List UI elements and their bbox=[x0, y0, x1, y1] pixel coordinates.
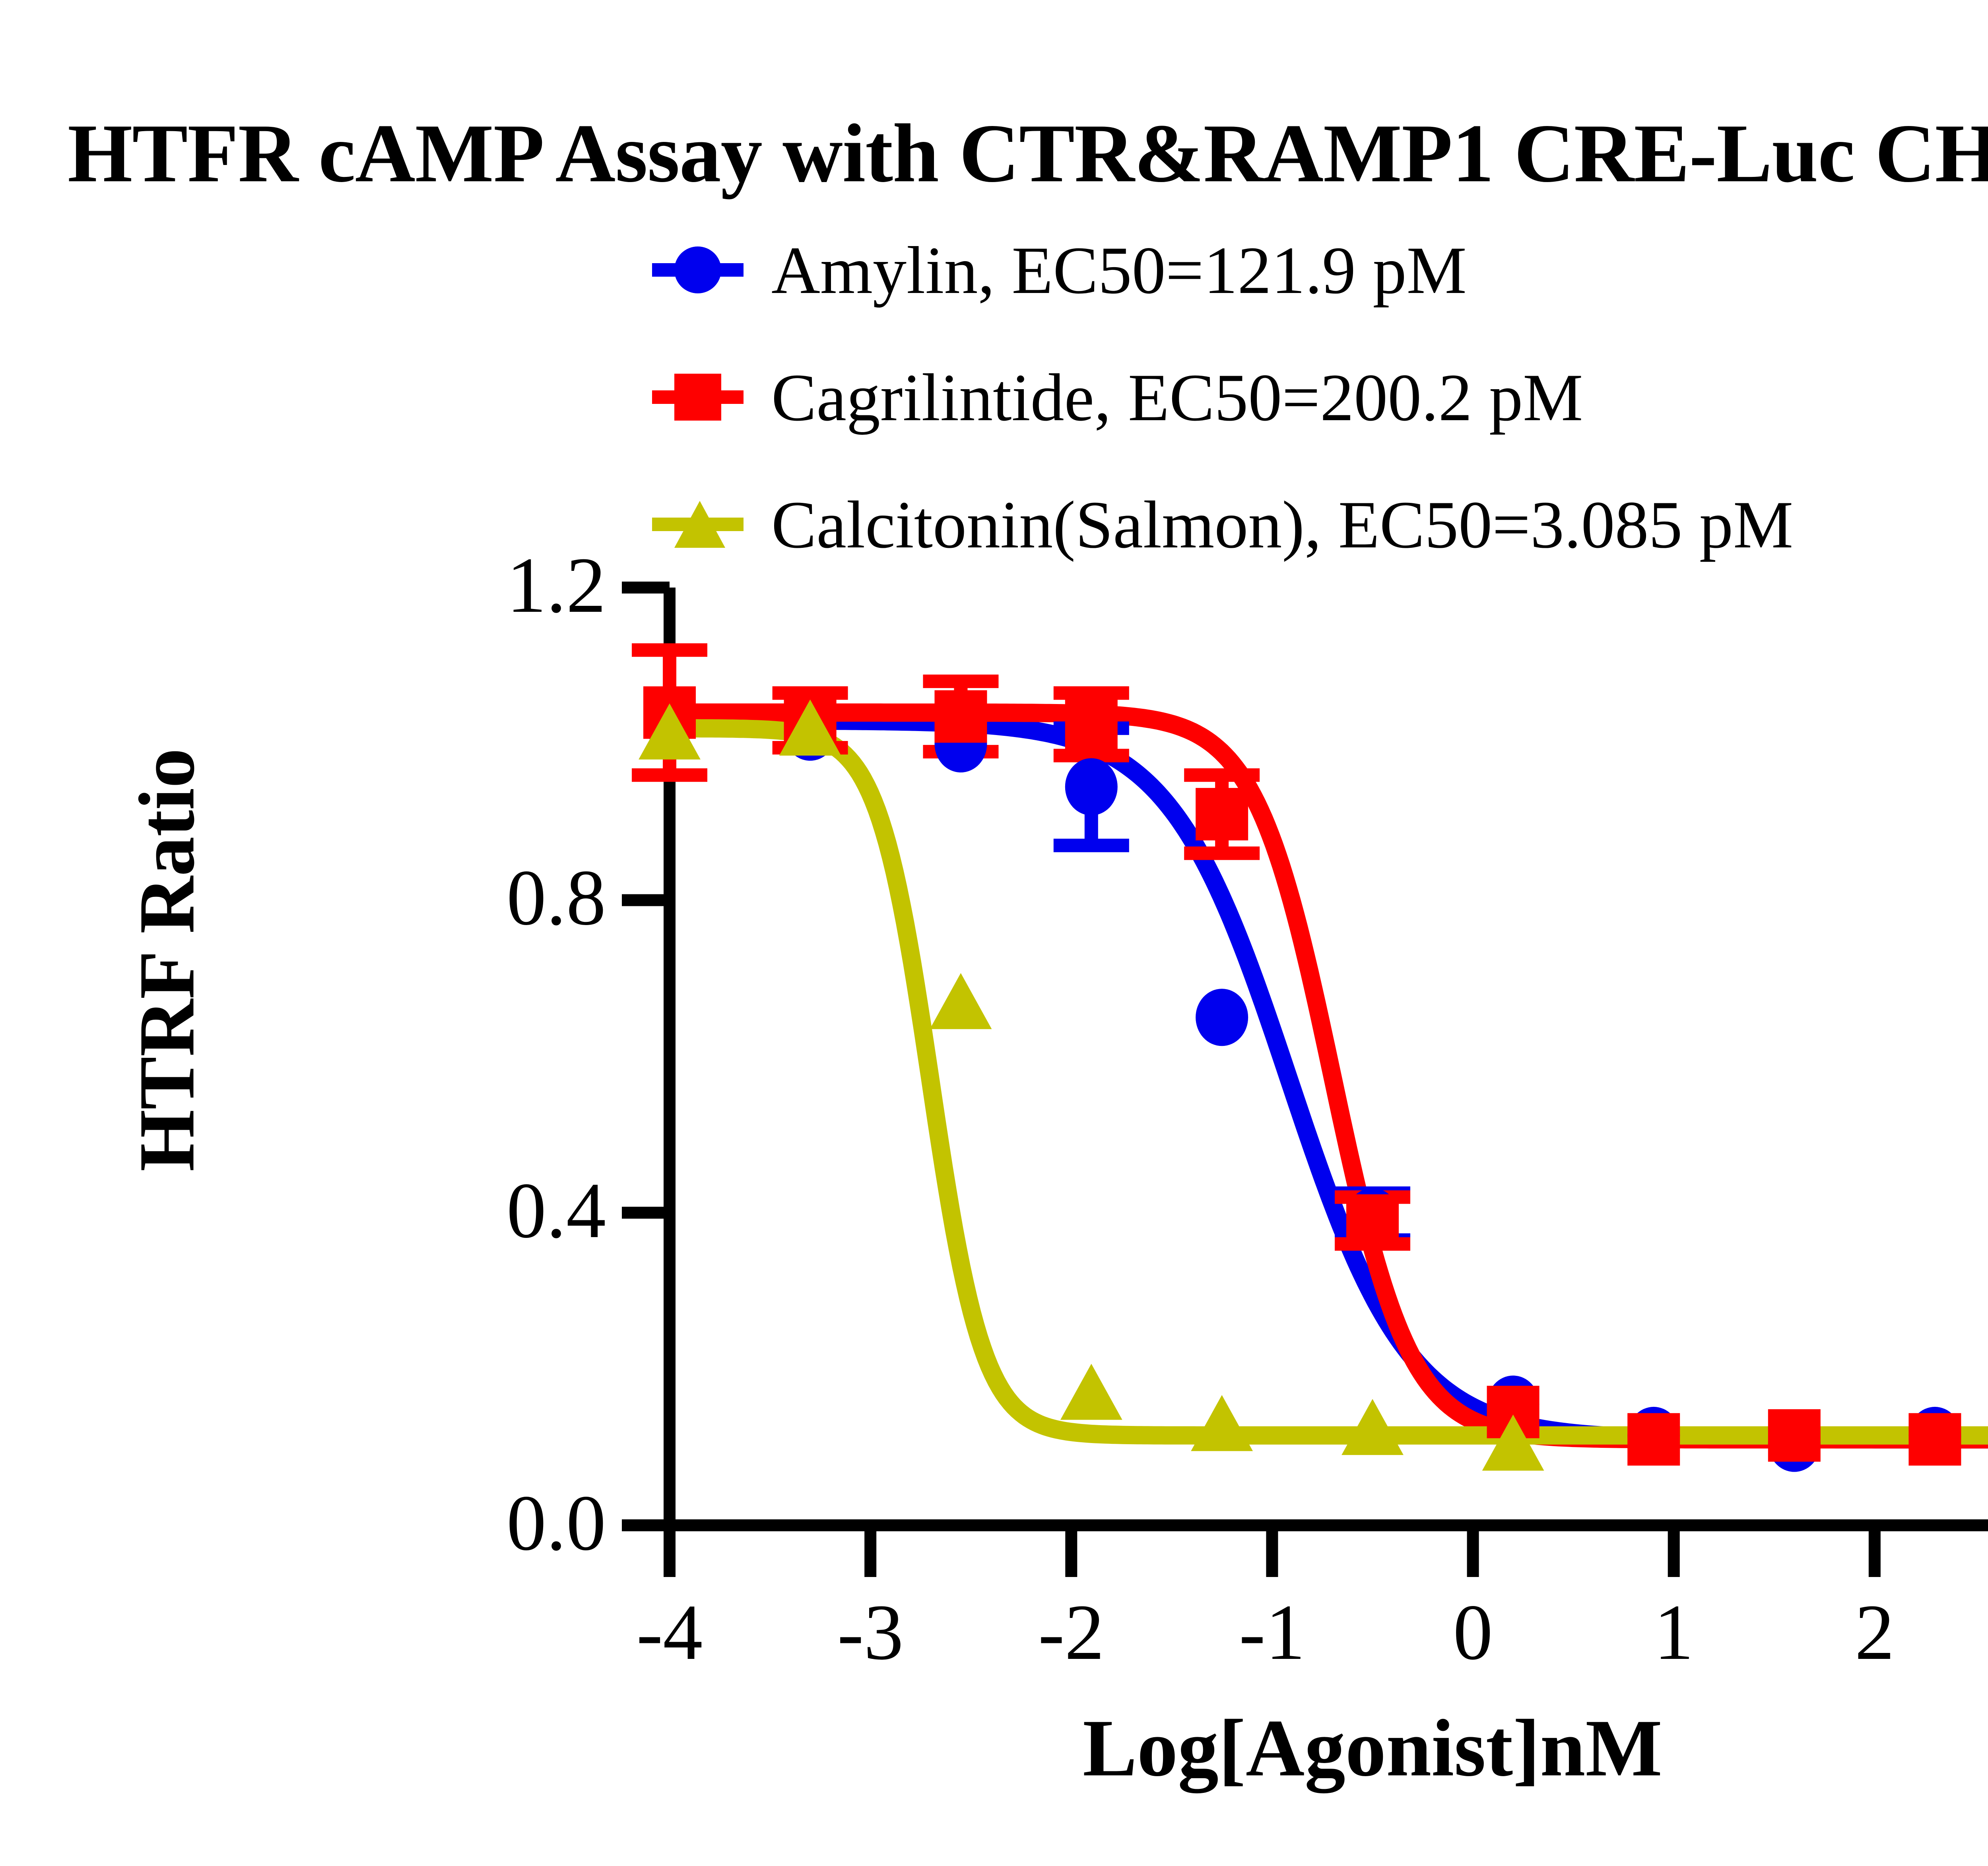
data-point-cagrilintide[interactable] bbox=[1908, 1413, 1961, 1466]
data-point-cagrilintide[interactable] bbox=[1768, 1409, 1821, 1462]
data-point-calcitonin-salmon-[interactable] bbox=[930, 973, 992, 1029]
data-point-cagrilintide[interactable] bbox=[1627, 1413, 1680, 1466]
y-tick-label: 1.2 bbox=[367, 546, 606, 625]
y-tick-label: 0.8 bbox=[367, 858, 606, 938]
data-point-cagrilintide[interactable] bbox=[1065, 698, 1118, 751]
data-point-calcitonin-salmon-[interactable] bbox=[1191, 1395, 1253, 1451]
x-tick-label: 0 bbox=[1394, 1593, 1553, 1672]
x-tick-label: 2 bbox=[1795, 1593, 1954, 1672]
data-point-cagrilintide[interactable] bbox=[1346, 1194, 1399, 1247]
data-point-calcitonin-salmon-[interactable] bbox=[1060, 1364, 1122, 1420]
x-axis-title: Log[Agonist]nM bbox=[670, 1701, 1988, 1795]
data-point-cagrilintide[interactable] bbox=[934, 690, 987, 743]
data-point-amylin[interactable] bbox=[1065, 758, 1118, 815]
x-tick-label: -4 bbox=[590, 1593, 749, 1672]
fit-curve-cagrilintide bbox=[670, 713, 1988, 1439]
x-tick-label: 1 bbox=[1594, 1593, 1753, 1672]
x-tick-label: -2 bbox=[992, 1593, 1151, 1672]
data-point-amylin[interactable] bbox=[1196, 989, 1248, 1046]
data-point-cagrilintide[interactable] bbox=[1196, 788, 1248, 840]
y-tick-label: 0.0 bbox=[367, 1484, 606, 1563]
x-tick-label: -3 bbox=[791, 1593, 950, 1672]
chart-page: HTFR cAMP Assay with CTR&RAMP1 CRE-Luc C… bbox=[0, 0, 1988, 1866]
y-axis-title: HTRF Ratio bbox=[122, 642, 213, 1278]
x-tick-label: -1 bbox=[1192, 1593, 1351, 1672]
chart-plot-area bbox=[0, 0, 1988, 1866]
y-tick-label: 0.4 bbox=[367, 1171, 606, 1251]
